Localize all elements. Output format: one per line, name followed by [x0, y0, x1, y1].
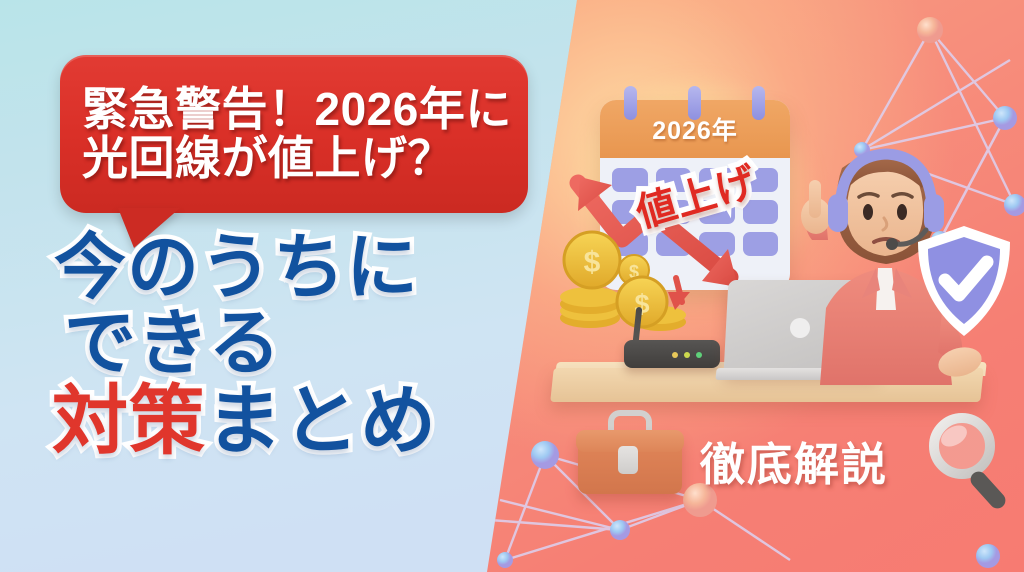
bubble-line-1: 緊急警告！2026年に: [82, 85, 528, 134]
declining-arrow-icon: [560, 165, 780, 305]
calendar-header: 2026年: [600, 100, 790, 158]
warning-speech-bubble: 緊急警告！2026年に 光回線が値上げ？: [60, 55, 528, 213]
calendar-ring-icon: [752, 86, 765, 120]
thumbnail-canvas: 2026年: [0, 0, 1024, 572]
svg-text:$: $: [629, 262, 639, 282]
svg-text:$: $: [634, 289, 649, 319]
headline-line-1: 今のうちに: [54, 232, 516, 304]
explain-label: 徹底解説: [700, 428, 888, 493]
calendar-cell: [656, 200, 692, 224]
calendar-ring-icon: [624, 86, 637, 120]
briefcase-clasp: [618, 446, 638, 474]
router-led: [684, 352, 690, 358]
shield-check-icon: [912, 222, 1016, 340]
calendar-cell: [743, 232, 779, 256]
desk-surface: [550, 368, 984, 402]
calendar-cell: [699, 200, 735, 224]
calendar-cell: [743, 200, 779, 224]
calendar-year-label: 2026年: [652, 111, 738, 147]
router-antenna-icon: [632, 307, 643, 352]
calendar-ring-icon: [688, 86, 701, 120]
router-led: [672, 352, 678, 358]
headline-line-3-red: 対策: [52, 379, 206, 464]
magnifier-icon: [928, 412, 1020, 516]
laptop-logo: [790, 318, 810, 338]
calendar-cell: [612, 232, 648, 256]
briefcase-handle: [608, 410, 652, 434]
headline-line-2: できる: [64, 308, 516, 380]
laptop-icon: [724, 280, 885, 374]
router-led: [696, 352, 702, 358]
calendar-cell: [612, 168, 648, 192]
calendar-grid: [600, 158, 790, 266]
desk-surface-top: [555, 362, 986, 376]
calendar-2026: 2026年: [600, 100, 790, 290]
headline-block: 今のうちに できる 対策まとめ: [46, 232, 516, 460]
calendar-cell: [699, 168, 735, 192]
coin-stack-icon: $ $ $: [556, 222, 696, 332]
briefcase-icon: [578, 432, 682, 494]
calendar-cell: [656, 168, 692, 192]
calendar-cell: [743, 168, 779, 192]
calendar-glow: [575, 75, 815, 310]
briefcase-lid: [576, 430, 684, 452]
svg-text:$: $: [584, 246, 601, 279]
support-agent-character: [792, 140, 992, 385]
price-increase-sticker: 値上げ: [628, 149, 762, 239]
laptop-base: [715, 368, 894, 380]
calendar-cell: [656, 232, 692, 256]
calendar-cell: [612, 200, 648, 224]
bubble-line-2: 光回線が値上げ？: [82, 134, 528, 183]
headline-line-3-blue: まとめ: [206, 379, 437, 464]
headline-line-3: 対策まとめ: [52, 384, 516, 460]
wifi-router-icon: [624, 340, 720, 368]
calendar-cell: [699, 232, 735, 256]
